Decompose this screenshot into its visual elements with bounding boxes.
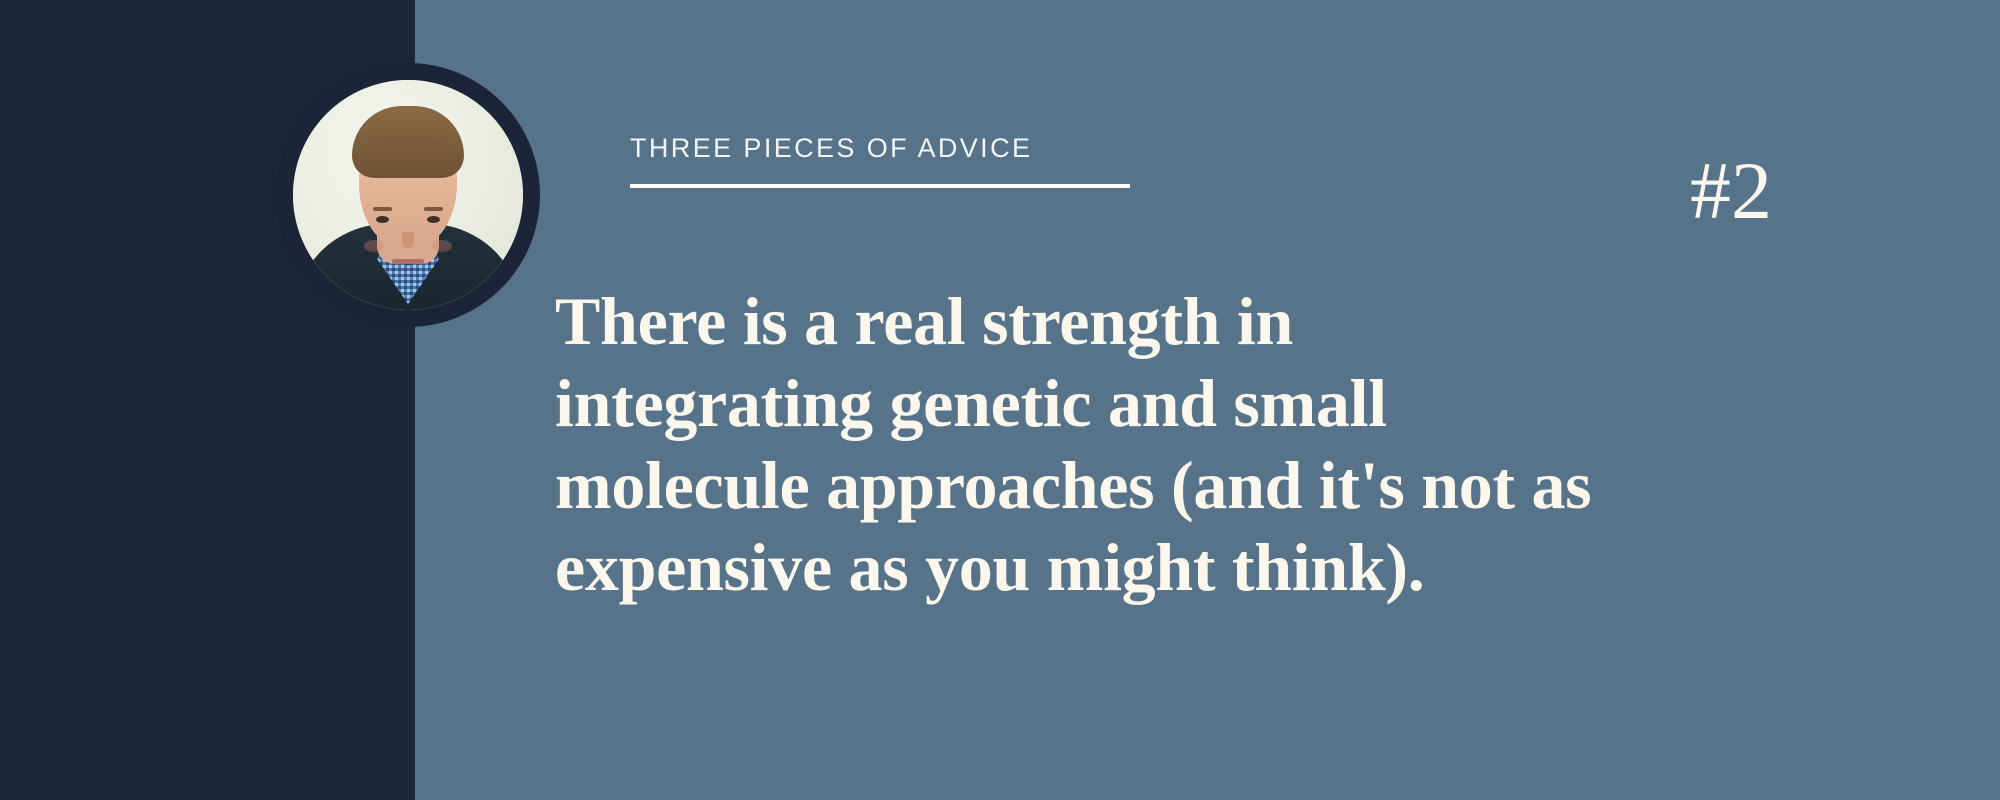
portrait-cheek-left bbox=[364, 240, 384, 252]
slide-content: THREE PIECES OF ADVICE #2 There is a rea… bbox=[555, 0, 2000, 800]
quote-line: expensive as you might think). bbox=[555, 526, 1685, 608]
quote-slide: THREE PIECES OF ADVICE #2 There is a rea… bbox=[0, 0, 2000, 800]
quote-line: There is a real strength in bbox=[555, 280, 1685, 362]
badge-number: #2 bbox=[1690, 150, 1772, 232]
portrait-eye-left bbox=[376, 216, 389, 223]
quote-text: There is a real strength in integrating … bbox=[555, 280, 1685, 608]
portrait-eye-right bbox=[427, 216, 440, 223]
eyebrow-label: THREE PIECES OF ADVICE bbox=[630, 135, 1130, 162]
portrait-eyebrow-left bbox=[373, 207, 392, 211]
avatar bbox=[276, 63, 540, 327]
portrait-eyebrow-right bbox=[424, 207, 443, 211]
eyebrow-block: THREE PIECES OF ADVICE bbox=[630, 135, 1130, 188]
avatar-photo bbox=[293, 80, 523, 310]
quote-line: molecule approaches (and it's not as bbox=[555, 444, 1685, 526]
portrait-mouth bbox=[392, 259, 424, 264]
quote-line: integrating genetic and small bbox=[555, 362, 1685, 444]
portrait-cheek-right bbox=[432, 240, 452, 252]
portrait-nose bbox=[402, 232, 414, 248]
eyebrow-divider bbox=[630, 184, 1130, 188]
